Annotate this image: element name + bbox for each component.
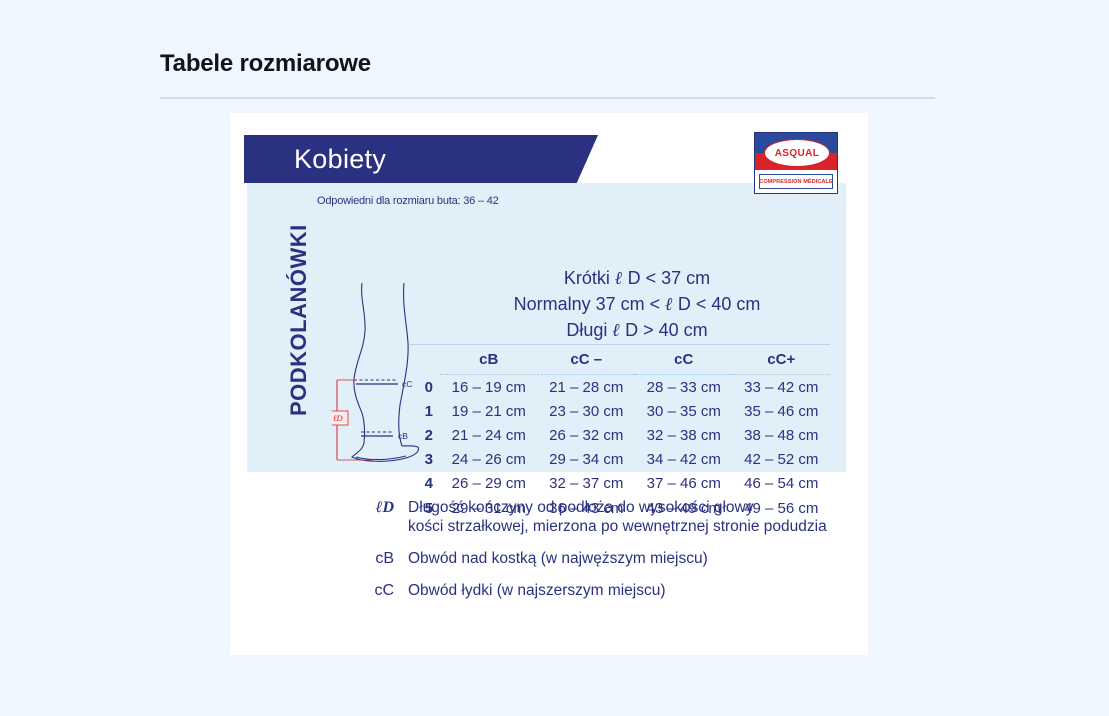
length-long-rule: D > 40 cm <box>625 320 708 340</box>
measurement-legend: ℓD Długość kończyny od podłoża do wysoko… <box>350 498 850 613</box>
column-header-cc-minus: cC – <box>538 345 636 375</box>
legend-item-length: ℓD Długość kończyny od podłoża do wysoko… <box>350 498 850 536</box>
legend-description-ankle: Obwód nad kostką (w najwęższym miejscu) <box>408 549 708 568</box>
cell-cc: 30 – 35 cm <box>635 399 733 423</box>
length-short-name: Krótki <box>564 268 610 288</box>
length-definition-long: Długi ℓ D > 40 cm <box>437 317 837 343</box>
cell-cc-minus: 21 – 28 cm <box>538 375 636 400</box>
size-chart-card: Odpowiedni dla rozmiaru buta: 36 – 42 PO… <box>230 113 868 655</box>
length-definition-short: Krótki ℓ D < 37 cm <box>437 265 837 291</box>
column-header-cc-plus: cC+ <box>733 345 831 375</box>
table-row: 0 16 – 19 cm 21 – 28 cm 28 – 33 cm 33 – … <box>410 375 830 400</box>
cell-cb: 16 – 19 cm <box>440 375 538 400</box>
cell-cc-minus: 32 – 37 cm <box>538 472 636 496</box>
cell-cc-plus: 33 – 42 cm <box>733 375 831 400</box>
cell-cc-plus: 35 – 46 cm <box>733 399 831 423</box>
column-header-size <box>410 345 440 375</box>
cell-cc-minus: 23 – 30 cm <box>538 399 636 423</box>
legend-item-ankle: cB Obwód nad kostką (w najwęższym miejsc… <box>350 549 850 568</box>
cell-cc-minus: 29 – 34 cm <box>538 448 636 472</box>
cell-size: 0 <box>410 375 440 400</box>
cell-cc-plus: 42 – 52 cm <box>733 448 831 472</box>
page-title: Tabele rozmiarowe <box>160 50 371 78</box>
table-row: 1 19 – 21 cm 23 – 30 cm 30 – 35 cm 35 – … <box>410 399 830 423</box>
logo-oval: ASQUAL <box>764 139 830 167</box>
legend-length-line1: Długość kończyny od podłoża do wysokości… <box>408 498 827 517</box>
logo-subtitle-box: COMPRESSION MÉDICALE <box>759 174 833 189</box>
ell-icon: ℓ <box>665 294 673 314</box>
ankle-label: cB <box>398 431 408 441</box>
legend-key-ankle: cB <box>350 549 408 568</box>
logo-brand-text: ASQUAL <box>775 148 820 159</box>
length-definitions: Krótki ℓ D < 37 cm Normalny 37 cm < ℓ D … <box>437 265 837 343</box>
size-table-header-row: cB cC – cC cC+ <box>410 345 830 375</box>
size-table: cB cC – cC cC+ 0 16 – 19 cm 21 – 28 cm 2… <box>410 344 830 520</box>
table-row: 3 24 – 26 cm 29 – 34 cm 34 – 42 cm 42 – … <box>410 448 830 472</box>
cell-cc-plus: 46 – 54 cm <box>733 472 831 496</box>
column-header-cc: cC <box>635 345 733 375</box>
title-divider <box>160 97 935 99</box>
cell-cc: 28 – 33 cm <box>635 375 733 400</box>
cell-cb: 24 – 26 cm <box>440 448 538 472</box>
length-normal-name: Normalny 37 cm < <box>514 294 661 314</box>
cell-cb: 26 – 29 cm <box>440 472 538 496</box>
cell-size: 2 <box>410 423 440 447</box>
category-banner-label: Kobiety <box>294 144 386 175</box>
cell-cc-minus: 26 – 32 cm <box>538 423 636 447</box>
legend-key-length: ℓD <box>350 498 408 536</box>
cell-cc: 34 – 42 cm <box>635 448 733 472</box>
length-label: ℓD <box>333 413 344 423</box>
length-definition-normal: Normalny 37 cm < ℓ D < 40 cm <box>437 291 837 317</box>
legend-description-length: Długość kończyny od podłoża do wysokości… <box>408 498 827 536</box>
cell-size: 4 <box>410 472 440 496</box>
asqual-logo: ASQUAL COMPRESSION MÉDICALE <box>754 132 838 194</box>
cell-cc: 37 – 46 cm <box>635 472 733 496</box>
cell-size: 1 <box>410 399 440 423</box>
column-header-cb: cB <box>440 345 538 375</box>
ell-icon: ℓ <box>612 320 620 340</box>
legend-key-calf: cC <box>350 581 408 600</box>
shoe-size-note: Odpowiedni dla rozmiaru buta: 36 – 42 <box>317 195 499 207</box>
legend-item-calf: cC Obwód łydki (w najszerszym miejscu) <box>350 581 850 600</box>
category-banner: Kobiety <box>244 135 598 183</box>
cell-cb: 19 – 21 cm <box>440 399 538 423</box>
table-row: 4 26 – 29 cm 32 – 37 cm 37 – 46 cm 46 – … <box>410 472 830 496</box>
size-table-head: cB cC – cC cC+ <box>410 345 830 375</box>
ell-icon: ℓ <box>615 268 623 288</box>
product-category-label: PODKOLANÓWKI <box>286 236 312 416</box>
cell-cb: 21 – 24 cm <box>440 423 538 447</box>
table-row: 2 21 – 24 cm 26 – 32 cm 32 – 38 cm 38 – … <box>410 423 830 447</box>
cell-cc-plus: 38 – 48 cm <box>733 423 831 447</box>
cell-cc: 32 – 38 cm <box>635 423 733 447</box>
length-short-rule: D < 37 cm <box>628 268 711 288</box>
legend-description-calf: Obwód łydki (w najszerszym miejscu) <box>408 581 666 600</box>
logo-subtitle-text: COMPRESSION MÉDICALE <box>759 179 833 185</box>
legend-length-line2: kości strzałkowej, mierzona po wewnętrzn… <box>408 517 827 536</box>
cell-size: 3 <box>410 448 440 472</box>
length-long-name: Długi <box>566 320 607 340</box>
length-normal-rule: D < 40 cm <box>678 294 761 314</box>
page-root: Tabele rozmiarowe Odpowiedni dla rozmiar… <box>0 0 1109 716</box>
size-chart-panel: Odpowiedni dla rozmiaru buta: 36 – 42 PO… <box>247 183 846 472</box>
